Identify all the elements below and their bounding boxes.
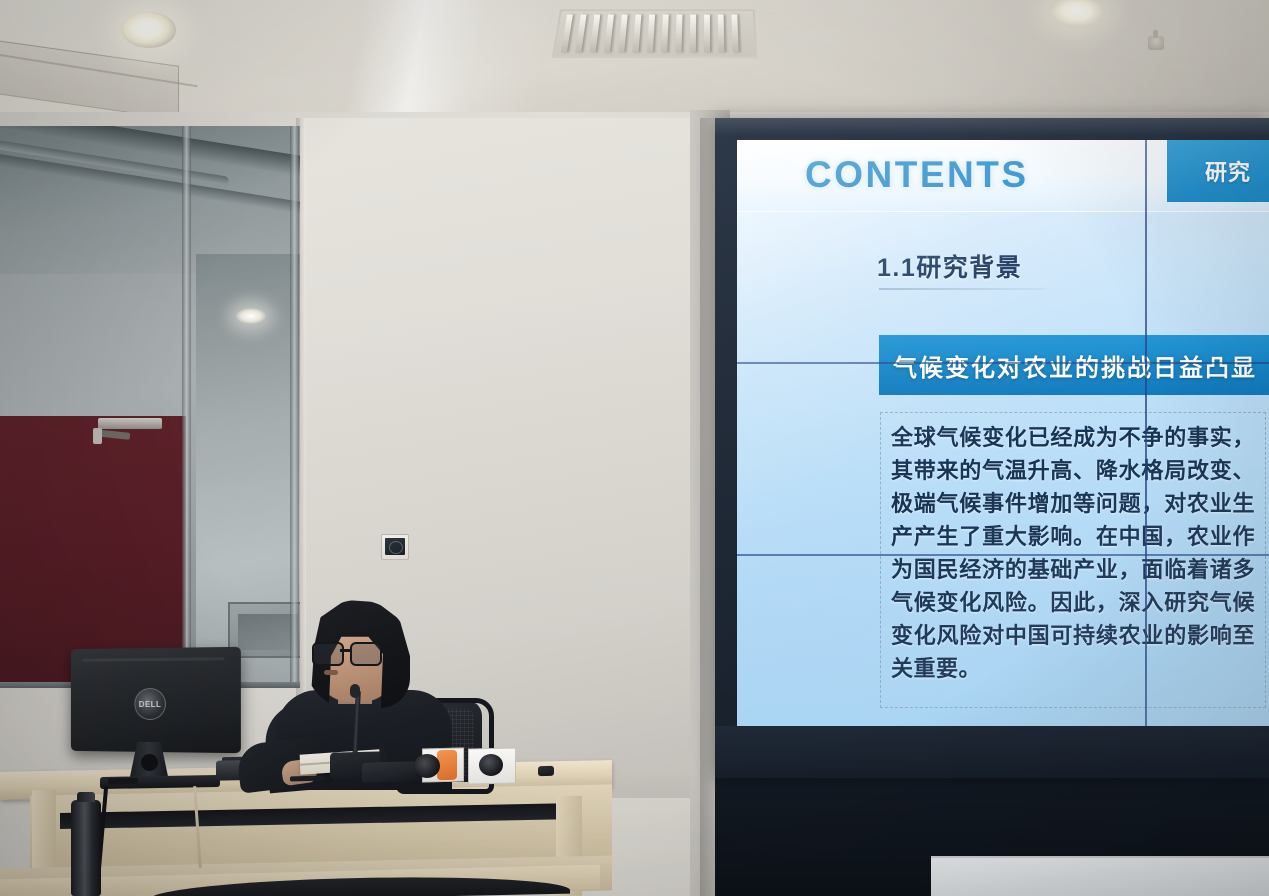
bezel-highlight	[715, 118, 1269, 136]
camera-lens-icon-2	[479, 754, 503, 776]
tile-seam-vertical	[1145, 140, 1147, 726]
section-heading-underline	[879, 288, 1047, 290]
socket-face	[385, 538, 405, 555]
pen-2[interactable]	[108, 778, 138, 785]
camera-lens-icon-1	[414, 754, 440, 778]
black-thermos[interactable]	[71, 800, 101, 896]
ceiling-downlight-right	[1048, 0, 1106, 28]
video-wall-display[interactable]: CONTENTS 研究 1.1研究背景 气候变化对农业的挑战日益凸显 全球气候变…	[715, 118, 1269, 778]
door-closer-icon	[98, 418, 162, 429]
slide-banner-label: 气候变化对农业的挑战日益凸显	[893, 348, 1257, 383]
slide-banner: 气候变化对农业的挑战日益凸显	[879, 335, 1269, 395]
glass-mullion-a	[182, 126, 191, 686]
dell-monitor[interactable]: DELL	[71, 647, 241, 753]
presenter-mouth	[324, 670, 338, 675]
door-handle-icon[interactable]	[93, 428, 102, 444]
reflected-ceiling-light	[236, 308, 266, 324]
tile-seam-horizontal-2	[737, 554, 1269, 556]
fire-sprinkler-icon	[1148, 36, 1164, 50]
microphone-2-base[interactable]	[362, 761, 416, 782]
orange-object	[437, 750, 457, 780]
presentation-slide: CONTENTS 研究 1.1研究背景 气候变化对农业的挑战日益凸显 全球气候变…	[737, 140, 1269, 726]
display-bottom-bezel	[715, 726, 1269, 778]
pen-1[interactable]	[290, 776, 324, 782]
slide-title-contents: CONTENTS	[805, 154, 1029, 196]
ceiling-air-vent	[552, 9, 758, 58]
glass-partition	[0, 126, 300, 686]
presenter-glasses-icon	[312, 642, 382, 662]
display-base-panel	[931, 856, 1269, 896]
microphone-head-icon	[350, 684, 360, 698]
dell-logo-icon: DELL	[134, 688, 166, 720]
monitor-ridge	[82, 657, 224, 662]
slide-section-heading: 1.1研究背景	[877, 248, 1022, 284]
tile-seam-horizontal-1	[737, 362, 1269, 364]
ceiling-downlight	[122, 12, 176, 48]
wall-socket-icon[interactable]	[381, 534, 409, 560]
maroon-door-panel[interactable]	[0, 416, 186, 686]
slide-body-text: 全球气候变化已经成为不争的事实，其带来的气温升高、降水格局改变、极端气候事件增加…	[891, 421, 1255, 685]
slide-header-tab-label: 研究	[1205, 155, 1251, 187]
conference-room-photo: CONTENTS 研究 1.1研究背景 气候变化对农业的挑战日益凸显 全球气候变…	[0, 0, 1269, 896]
small-desk-object	[538, 766, 554, 776]
display-screen[interactable]: CONTENTS 研究 1.1研究背景 气候变化对农业的挑战日益凸显 全球气候变…	[737, 140, 1269, 726]
slide-header-tab: 研究	[1167, 140, 1269, 202]
slide-body-box: 全球气候变化已经成为不争的事实，其带来的气温升高、降水格局改变、极端气候事件增加…	[880, 412, 1266, 708]
